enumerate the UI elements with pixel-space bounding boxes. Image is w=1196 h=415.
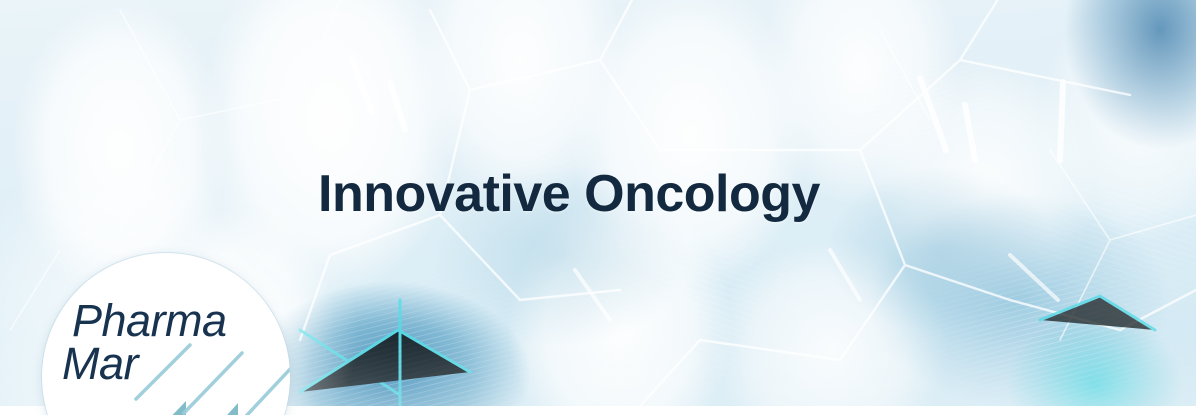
pharmamar-banner: Innovative Oncology xyxy=(0,0,1196,415)
pharmamar-logo[interactable]: Pharma Mar xyxy=(42,253,290,415)
logo-text-line-2: Mar xyxy=(62,341,138,386)
page-title: Innovative Oncology xyxy=(318,164,820,224)
wave-sails-icon xyxy=(134,341,290,415)
logo-text-line-1: Pharma xyxy=(72,298,227,343)
logo-inner: Pharma Mar xyxy=(42,253,290,415)
